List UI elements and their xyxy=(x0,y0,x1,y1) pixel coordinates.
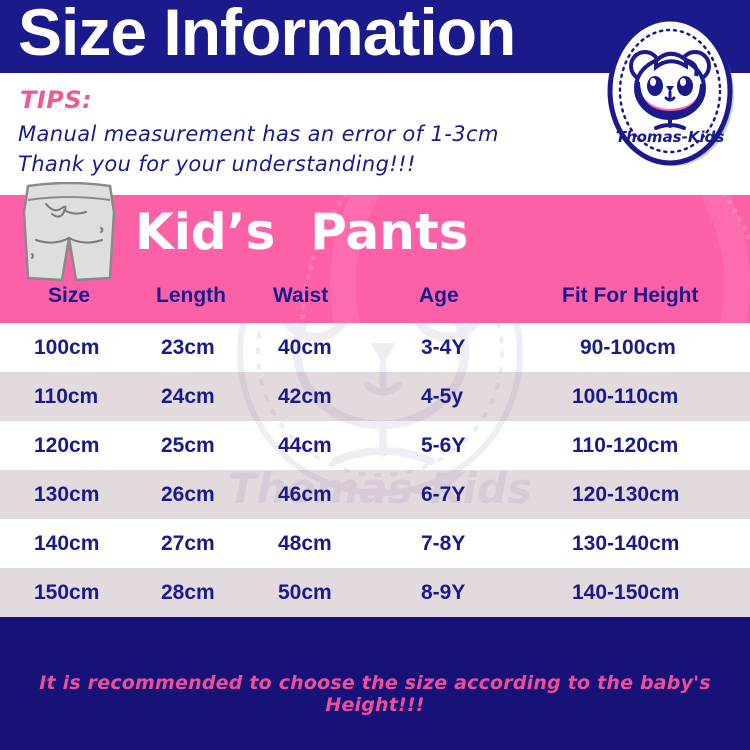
cell-size: 120cm xyxy=(34,434,99,458)
cell-waist: 44cm xyxy=(278,434,332,458)
cell-fit-for-height: 100-110cm xyxy=(572,385,678,409)
footer-note: It is recommended to choose the size acc… xyxy=(0,672,750,716)
cell-fit-for-height: 120-130cm xyxy=(572,483,679,507)
cell-size: 110cm xyxy=(34,385,98,409)
column-header-age: Age xyxy=(419,284,459,308)
size-information-chart: Size Information xyxy=(0,0,750,750)
cell-fit-for-height: 140-150cm xyxy=(572,581,679,605)
size-table: Thomas-Kids 100cm 23cm 40cm 3-4Y 90-100c… xyxy=(0,323,750,617)
thomas-kids-logo: Thomas-Kids xyxy=(604,14,736,170)
table-row: 130cm 26cm 46cm 6-7Y 120-130cm xyxy=(0,470,750,519)
cell-length: 28cm xyxy=(161,581,215,605)
svg-text:Thomas-Kids: Thomas-Kids xyxy=(616,128,725,146)
table-row: 150cm 28cm 50cm 8-9Y 140-150cm xyxy=(0,568,750,617)
banner-title: Kid’s Pants xyxy=(135,203,469,261)
cell-fit-for-height: 130-140cm xyxy=(572,532,679,556)
cell-waist: 48cm xyxy=(278,532,332,556)
cell-age: 5-6Y xyxy=(421,434,465,458)
cell-age: 6-7Y xyxy=(421,483,465,507)
cell-age: 8-9Y xyxy=(421,581,465,605)
kids-shorts-illustration xyxy=(6,182,132,286)
cell-length: 25cm xyxy=(161,434,215,458)
cell-waist: 50cm xyxy=(278,581,332,605)
table-row: 110cm 24cm 42cm 4-5y 100-110cm xyxy=(0,372,750,421)
page-title: Size Information xyxy=(18,0,515,70)
cell-fit-for-height: 90-100cm xyxy=(580,336,676,360)
table-row: 140cm 27cm 48cm 7-8Y 130-140cm xyxy=(0,519,750,568)
table-row: 100cm 23cm 40cm 3-4Y 90-100cm xyxy=(0,323,750,372)
cell-waist: 40cm xyxy=(278,336,332,360)
cell-size: 100cm xyxy=(34,336,99,360)
tips-line-1: Manual measurement has an error of 1-3cm xyxy=(18,122,499,146)
table-row: 120cm 25cm 44cm 5-6Y 110-120cm xyxy=(0,421,750,470)
cell-length: 23cm xyxy=(161,336,215,360)
column-header-size: Size xyxy=(48,284,90,308)
cell-length: 26cm xyxy=(161,483,215,507)
cell-length: 24cm xyxy=(161,385,215,409)
cell-size: 140cm xyxy=(34,532,99,556)
cell-age: 3-4Y xyxy=(421,336,465,360)
cell-fit-for-height: 110-120cm xyxy=(572,434,678,458)
tips-label: TIPS: xyxy=(20,86,92,114)
cell-age: 7-8Y xyxy=(421,532,465,556)
cell-size: 150cm xyxy=(34,581,99,605)
cell-waist: 42cm xyxy=(278,385,332,409)
column-header-waist: Waist xyxy=(273,284,328,308)
cell-waist: 46cm xyxy=(278,483,332,507)
column-header-fit-for-height: Fit For Height xyxy=(562,284,698,308)
column-header-length: Length xyxy=(156,284,226,308)
cell-size: 130cm xyxy=(34,483,99,507)
cell-length: 27cm xyxy=(161,532,215,556)
tips-line-2: Thank you for your understanding!!! xyxy=(18,152,416,176)
cell-age: 4-5y xyxy=(421,385,463,409)
